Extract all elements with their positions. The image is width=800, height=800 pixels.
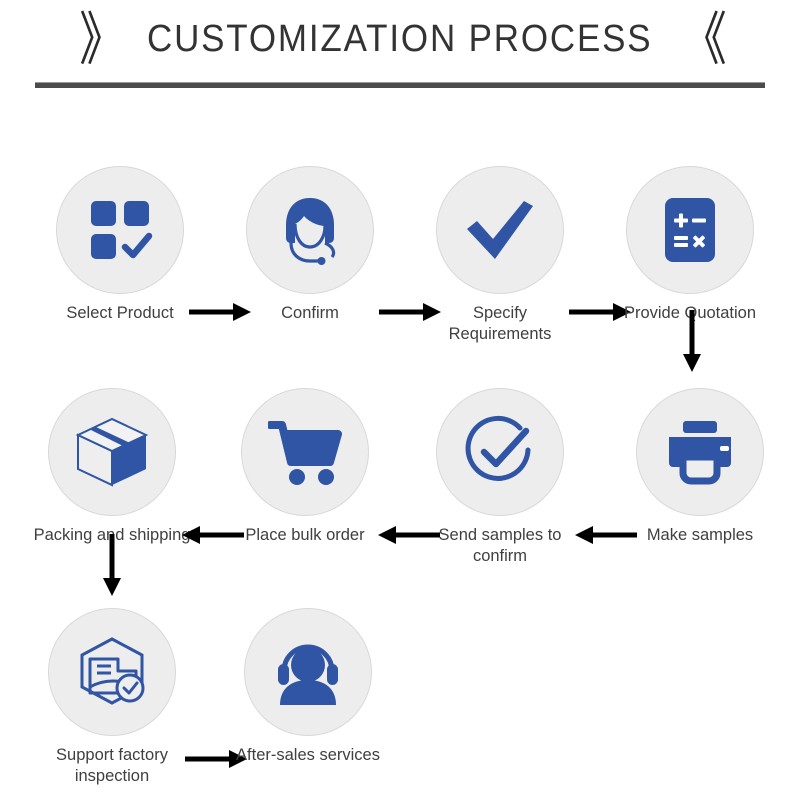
step-icon-circle — [436, 166, 564, 294]
checkmark-icon — [462, 195, 538, 265]
step-icon-circle — [246, 166, 374, 294]
step-icon-circle — [626, 166, 754, 294]
step-label: Confirm — [230, 303, 390, 324]
step-icon-circle — [241, 388, 369, 516]
step-label: Select Product — [40, 303, 200, 324]
process-flow-diagram: Select Product Confirm — [0, 88, 800, 798]
connector-r2-to-r3 — [101, 534, 123, 596]
circle-check-icon — [462, 414, 538, 490]
support-person-icon — [270, 637, 346, 707]
step-label: Place bulk order — [225, 525, 385, 546]
step-packing-and-shipping[interactable]: Packing and shipping — [32, 388, 192, 546]
step-after-sales-services[interactable]: After-sales services — [228, 608, 388, 766]
chevron-double-right-icon: 》 — [79, 10, 119, 68]
step-confirm[interactable]: Confirm — [230, 166, 390, 324]
factory-inspection-icon — [74, 635, 150, 709]
chevron-double-left-icon: 《 — [681, 10, 721, 68]
step-support-factory-inspection[interactable]: Support factory inspection — [32, 608, 192, 787]
step-specify-requirements[interactable]: Specify Requirements — [420, 166, 580, 345]
grid-check-icon — [85, 195, 155, 265]
step-place-bulk-order[interactable]: Place bulk order — [225, 388, 385, 546]
step-label: Specify Requirements — [420, 303, 580, 345]
step-label: Send samples to confirm — [420, 525, 580, 567]
step-label: Make samples — [620, 525, 780, 546]
step-select-product[interactable]: Select Product — [40, 166, 200, 324]
step-icon-circle — [244, 608, 372, 736]
step-label: After-sales services — [228, 745, 388, 766]
step-provide-quotation[interactable]: Provide Quotation — [610, 166, 770, 324]
box-package-icon — [74, 415, 150, 489]
step-icon-circle — [436, 388, 564, 516]
step-label: Support factory inspection — [32, 745, 192, 787]
connector-r1-to-r2 — [681, 310, 703, 372]
calculator-icon — [657, 194, 723, 266]
step-make-samples[interactable]: Make samples — [620, 388, 780, 546]
step-icon-circle — [56, 166, 184, 294]
printer-icon — [663, 419, 737, 485]
step-icon-circle — [48, 608, 176, 736]
headset-agent-icon — [274, 194, 346, 266]
step-icon-circle — [636, 388, 764, 516]
title-row: 》 CUSTOMIZATION PROCESS 《 — [0, 10, 800, 68]
page-header: 》 CUSTOMIZATION PROCESS 《 — [0, 0, 800, 88]
page-title: CUSTOMIZATION PROCESS — [147, 18, 652, 61]
step-send-samples-to-confirm[interactable]: Send samples to confirm — [420, 388, 580, 567]
step-icon-circle — [48, 388, 176, 516]
shopping-cart-icon — [268, 418, 342, 486]
